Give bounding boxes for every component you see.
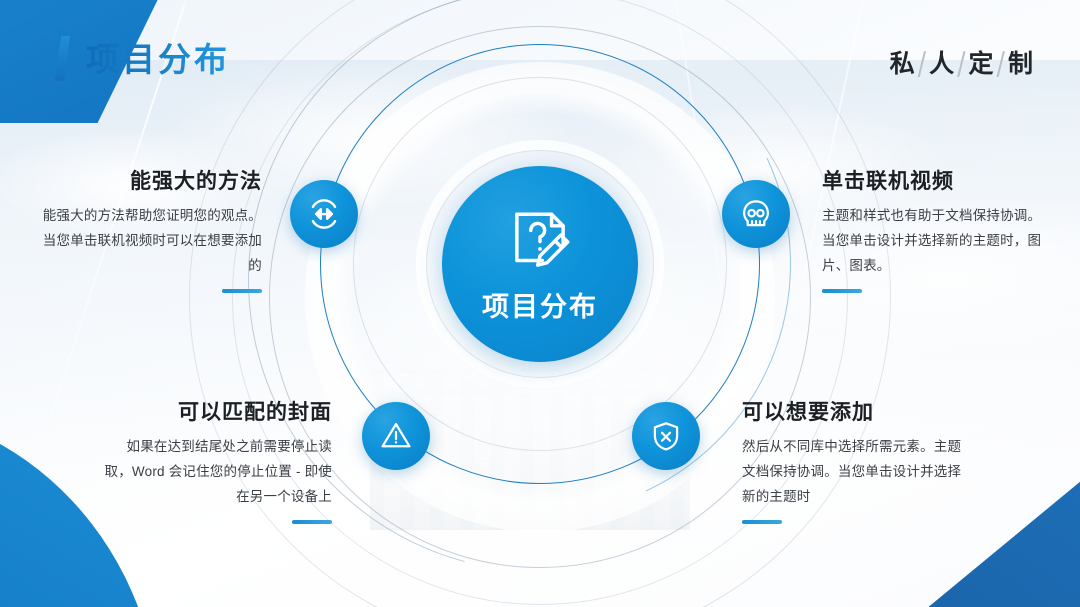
- logo-separator-icon: /: [957, 45, 970, 81]
- info-heading: 能强大的方法: [30, 165, 262, 195]
- logo-char-1: 私: [890, 49, 920, 78]
- logo-char-2: 人: [929, 49, 959, 78]
- horizontal-resize-arrow-icon: [305, 195, 343, 233]
- info-body: 如果在达到结尾处之前需要停止读取，Word 会记住您的停止位置 - 即使在另一个…: [100, 435, 332, 510]
- info-accent-bar: [742, 520, 782, 524]
- brand-logo: 私/人/定/制: [890, 44, 1038, 80]
- shield-x-icon: [647, 417, 685, 455]
- info-body: 能强大的方法帮助您证明您的观点。当您单击联机视频时可以在想要添加的: [30, 204, 262, 279]
- info-body: 主题和样式也有助于文档保持协调。当您单击设计并选择新的主题时，图片、图表。: [822, 204, 1054, 279]
- info-heading: 可以想要添加: [742, 396, 974, 426]
- node-bottom-right[interactable]: [632, 402, 700, 470]
- info-heading: 单击联机视频: [822, 165, 1054, 195]
- logo-separator-icon: /: [997, 45, 1010, 81]
- info-block-top-left: 能强大的方法 能强大的方法帮助您证明您的观点。当您单击联机视频时可以在想要添加的: [30, 165, 262, 293]
- node-top-right[interactable]: [722, 180, 790, 248]
- info-body: 然后从不同库中选择所需元素。主题文档保持协调。当您单击设计并选择新的主题时: [742, 435, 974, 510]
- page-title: 项目分布: [86, 33, 230, 81]
- info-block-top-right: 单击联机视频 主题和样式也有助于文档保持协调。当您单击设计并选择新的主题时，图片…: [822, 165, 1054, 293]
- slide-header: 项目分布 私/人/定/制: [0, 0, 1080, 110]
- skull-icon: [737, 195, 775, 233]
- info-block-bottom-right: 可以想要添加 然后从不同库中选择所需元素。主题文档保持协调。当您单击设计并选择新…: [742, 396, 974, 524]
- slide-canvas: 项目分布 私/人/定/制 项目分布: [0, 0, 1080, 607]
- node-top-left[interactable]: [290, 180, 358, 248]
- info-accent-bar: [222, 289, 262, 293]
- center-hub[interactable]: 项目分布: [442, 166, 638, 362]
- info-block-bottom-left: 可以匹配的封面 如果在达到结尾处之前需要停止读取，Word 会记住您的停止位置 …: [100, 396, 332, 524]
- info-accent-bar: [292, 520, 332, 524]
- warning-triangle-icon: [377, 417, 415, 455]
- title-accent-bar: [55, 36, 70, 81]
- logo-char-3: 定: [969, 49, 999, 78]
- hub-label: 项目分布: [482, 285, 598, 324]
- info-heading: 可以匹配的封面: [100, 396, 332, 426]
- info-accent-bar: [822, 289, 862, 293]
- document-question-pencil-icon: [503, 205, 577, 279]
- logo-char-4: 制: [1008, 49, 1038, 78]
- node-bottom-left[interactable]: [362, 402, 430, 470]
- logo-separator-icon: /: [918, 45, 931, 81]
